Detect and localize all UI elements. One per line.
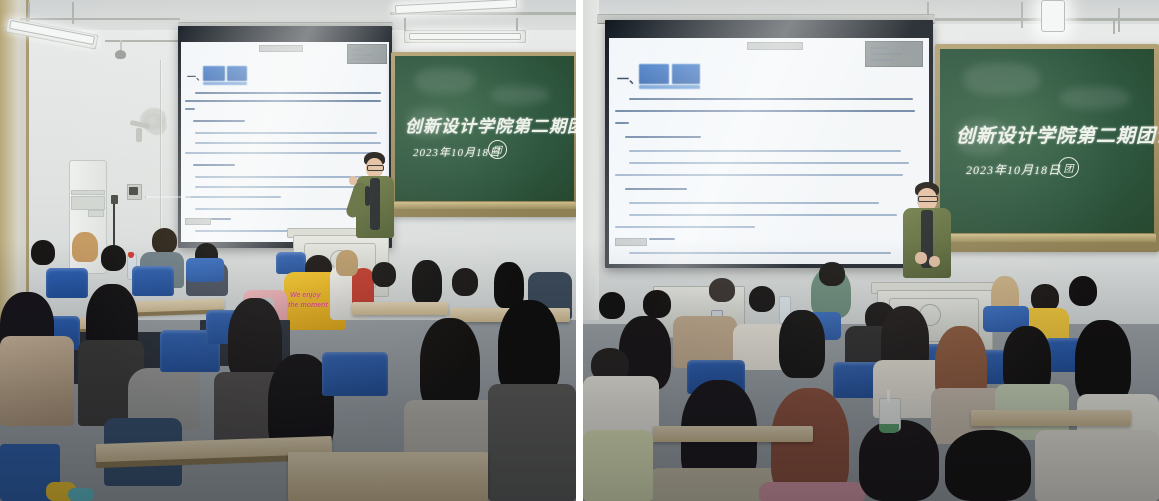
ceiling-camera	[115, 50, 126, 59]
light-hanger-3	[1113, 18, 1115, 34]
slide-corner-badge	[347, 44, 387, 64]
lecture-seat	[322, 352, 388, 396]
left-wall-column	[583, 0, 599, 320]
blackboard-title: 创新设计学院第二期团课	[956, 121, 1159, 148]
student-head	[643, 290, 671, 318]
light-hanger	[28, 2, 30, 18]
speaker-hand-2	[929, 256, 940, 267]
student-desk	[352, 302, 448, 315]
blackboard-frame: 创新设计学院第二期团课 2023年10月18日 团	[391, 52, 576, 217]
speaker-hand	[915, 252, 927, 264]
student-hair	[945, 430, 1031, 501]
slide-heading-block	[639, 64, 669, 84]
student-desk	[653, 426, 813, 442]
blackboard: 创新设计学院第二期团课 2023年10月18日 团	[395, 56, 574, 201]
student-torso	[488, 384, 576, 501]
light-hanger-4	[516, 18, 518, 31]
wall-trim	[145, 196, 191, 198]
student-tan-coat	[0, 336, 74, 426]
hoodie-text-line1: We enjoy	[290, 292, 321, 300]
wall-light-tube	[409, 33, 521, 40]
slide-heading-block	[203, 66, 225, 81]
ceiling-rail	[20, 18, 180, 20]
wall-plug	[111, 195, 118, 204]
slide-heading-block-2	[227, 66, 247, 81]
student-head	[599, 292, 625, 319]
slide-tag	[185, 218, 211, 225]
photo-gutter	[576, 0, 583, 501]
ceiling-rail	[919, 18, 1159, 21]
blackboard-date: 2023年10月18日	[966, 161, 1061, 178]
slide-heading-underline	[639, 85, 700, 89]
slide-footer-badge	[747, 42, 803, 50]
chalk-tray	[393, 202, 576, 209]
student-head	[1069, 276, 1097, 306]
slide-heading-underline	[203, 82, 247, 85]
slide-heading-number: 一、	[617, 70, 641, 87]
lecture-seat	[276, 252, 306, 274]
speaker-inner-shirt	[370, 178, 380, 230]
student-torso	[759, 482, 865, 501]
projector-screen: 一、	[609, 38, 929, 264]
student-head	[101, 245, 126, 271]
speaker-glasses	[367, 165, 384, 171]
hoodie-text-line2: the moment	[288, 302, 328, 310]
microphone	[365, 186, 370, 206]
student-hair	[779, 310, 825, 378]
student-hair	[859, 420, 939, 501]
left-photo: 一、	[0, 0, 576, 501]
student-torso	[1035, 430, 1159, 501]
student-head	[819, 262, 845, 286]
student-desk	[288, 452, 488, 501]
student-hair	[1075, 320, 1131, 404]
left-wall-column	[0, 0, 26, 330]
slide-footer-badge	[259, 45, 303, 52]
wall-edge	[26, 0, 29, 330]
ceiling-light-tube	[1041, 0, 1065, 32]
light-hanger-2	[72, 2, 74, 24]
wall-fan-mount	[136, 128, 142, 142]
blackboard-title: 创新设计学院第二期团课	[405, 112, 576, 137]
chalk-tray	[938, 234, 1156, 242]
light-hanger-4	[1118, 8, 1120, 32]
door-frame	[160, 60, 162, 230]
student-hair	[72, 232, 98, 262]
speaker-glasses	[918, 196, 938, 202]
blackboard-stamp: 团	[488, 140, 507, 159]
student-desk	[971, 410, 1131, 426]
student-head	[372, 262, 396, 287]
drink-straw	[887, 390, 890, 402]
right-photo: 一、	[583, 0, 1159, 501]
student-head	[709, 278, 735, 302]
ac-display	[88, 210, 104, 217]
lecture-seat	[132, 266, 174, 296]
student-hair	[336, 250, 358, 276]
student-head	[31, 240, 55, 265]
photo-pair-collage: 一、	[0, 0, 1159, 501]
ac-panel	[71, 196, 105, 210]
slide-corner-badge	[865, 41, 923, 67]
student-hair	[412, 260, 442, 304]
light-hanger-3	[404, 18, 406, 31]
blackboard-frame: 创新设计学院第二期团课 2023年10月18日 团	[935, 44, 1159, 252]
speaker-hand	[349, 176, 357, 185]
student-torso	[583, 430, 653, 501]
bottle-cap	[128, 252, 134, 258]
drink-cup-base	[879, 424, 899, 433]
slide-heading-block-2	[672, 64, 700, 84]
student-head	[749, 286, 775, 312]
student-head	[152, 228, 177, 254]
projector-screen-frame: 一、	[605, 20, 933, 268]
blackboard-stamp: 团	[1058, 157, 1079, 178]
blackboard: 创新设计学院第二期团课 2023年10月18日 团	[940, 49, 1154, 233]
lecture-seat	[46, 268, 88, 298]
teal-bag	[68, 488, 94, 501]
lecture-seat	[186, 258, 224, 282]
slide-tag	[615, 238, 647, 246]
wall-outlet-face	[129, 187, 138, 195]
ac-vent	[71, 190, 105, 195]
student-head	[452, 268, 478, 296]
light-hanger-2	[1021, 2, 1023, 28]
